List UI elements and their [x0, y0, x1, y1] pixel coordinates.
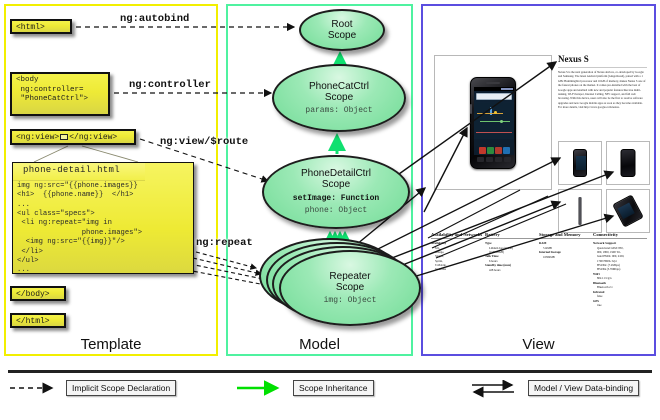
scope-phonecatctrl: PhoneCatCtrlScope params: Object: [272, 64, 406, 132]
column-title-model: Model: [226, 336, 413, 353]
partial-template-note: phone-detail.html img ng:src="{{phone.im…: [12, 162, 194, 274]
scope-property: params: Object: [305, 106, 372, 116]
legend-entry-data-binding: Model / View Data-binding: [470, 379, 639, 397]
scope-property-setimage-text: setImage: Function: [293, 194, 379, 203]
scope-name: RepeaterScope: [329, 271, 370, 293]
scope-property-phone: phone: Object: [305, 206, 367, 216]
placeholder-rect-icon: [60, 134, 68, 140]
legend-label: Model / View Data-binding: [528, 380, 639, 396]
legend-entry-scope-inheritance: Scope Inheritance: [235, 379, 374, 397]
partial-filename: phone-detail.html: [23, 165, 120, 175]
label-ng-view-route: ng:view/$route: [160, 136, 248, 148]
scope-name: RootScope: [328, 19, 356, 41]
edge-data-binding-specs: [428, 190, 566, 258]
column-title-view: View: [421, 336, 656, 353]
label-ng-autobind: ng:autobind: [120, 13, 189, 25]
code-end-body-tag: </body>: [10, 286, 66, 301]
column-title-template: Template: [4, 336, 218, 353]
code-end-html-tag: </html>: [10, 313, 66, 328]
legend-entry-implicit-scope: Implicit Scope Declaration: [8, 379, 176, 397]
partial-code: img ng:src="{{phone.images}} <h1> {{phon…: [17, 182, 191, 276]
ngview-close: </ng:view>: [69, 133, 117, 142]
template-note-callout: [34, 146, 138, 162]
label-ng-repeat: ng:repeat: [196, 237, 253, 249]
code-ngview-tag: <ng:view></ng:view>: [10, 129, 136, 145]
scope-repeater: RepeaterScope img: Object: [279, 250, 421, 326]
code-html-tag: <html>: [10, 19, 72, 34]
green-arrow-icon: [235, 380, 287, 396]
dashed-arrow-icon: [8, 380, 60, 396]
double-arrow-icon: [470, 380, 522, 396]
scope-phonedetailctrl: PhoneDetailCtrlScope setImage: Function …: [262, 155, 410, 229]
ngview-open: <ng:view>: [16, 133, 59, 142]
legend-divider: [8, 370, 652, 373]
scope-root: RootScope: [299, 9, 385, 51]
legend-label: Implicit Scope Declaration: [66, 380, 176, 396]
label-ng-controller: ng:controller: [129, 79, 211, 91]
scope-property-setimage: setImage: Function: [293, 194, 379, 204]
scope-property: img: Object: [324, 296, 377, 306]
code-body-tag: <body ng:controller= "PhoneCatCtrl">: [10, 72, 110, 116]
diagram-canvas: Nexus S Nexus S is the next generation o…: [0, 0, 660, 420]
legend-label: Scope Inheritance: [293, 380, 374, 396]
scope-name: PhoneDetailCtrlScope: [301, 168, 371, 190]
scope-name: PhoneCatCtrlScope: [309, 81, 369, 103]
